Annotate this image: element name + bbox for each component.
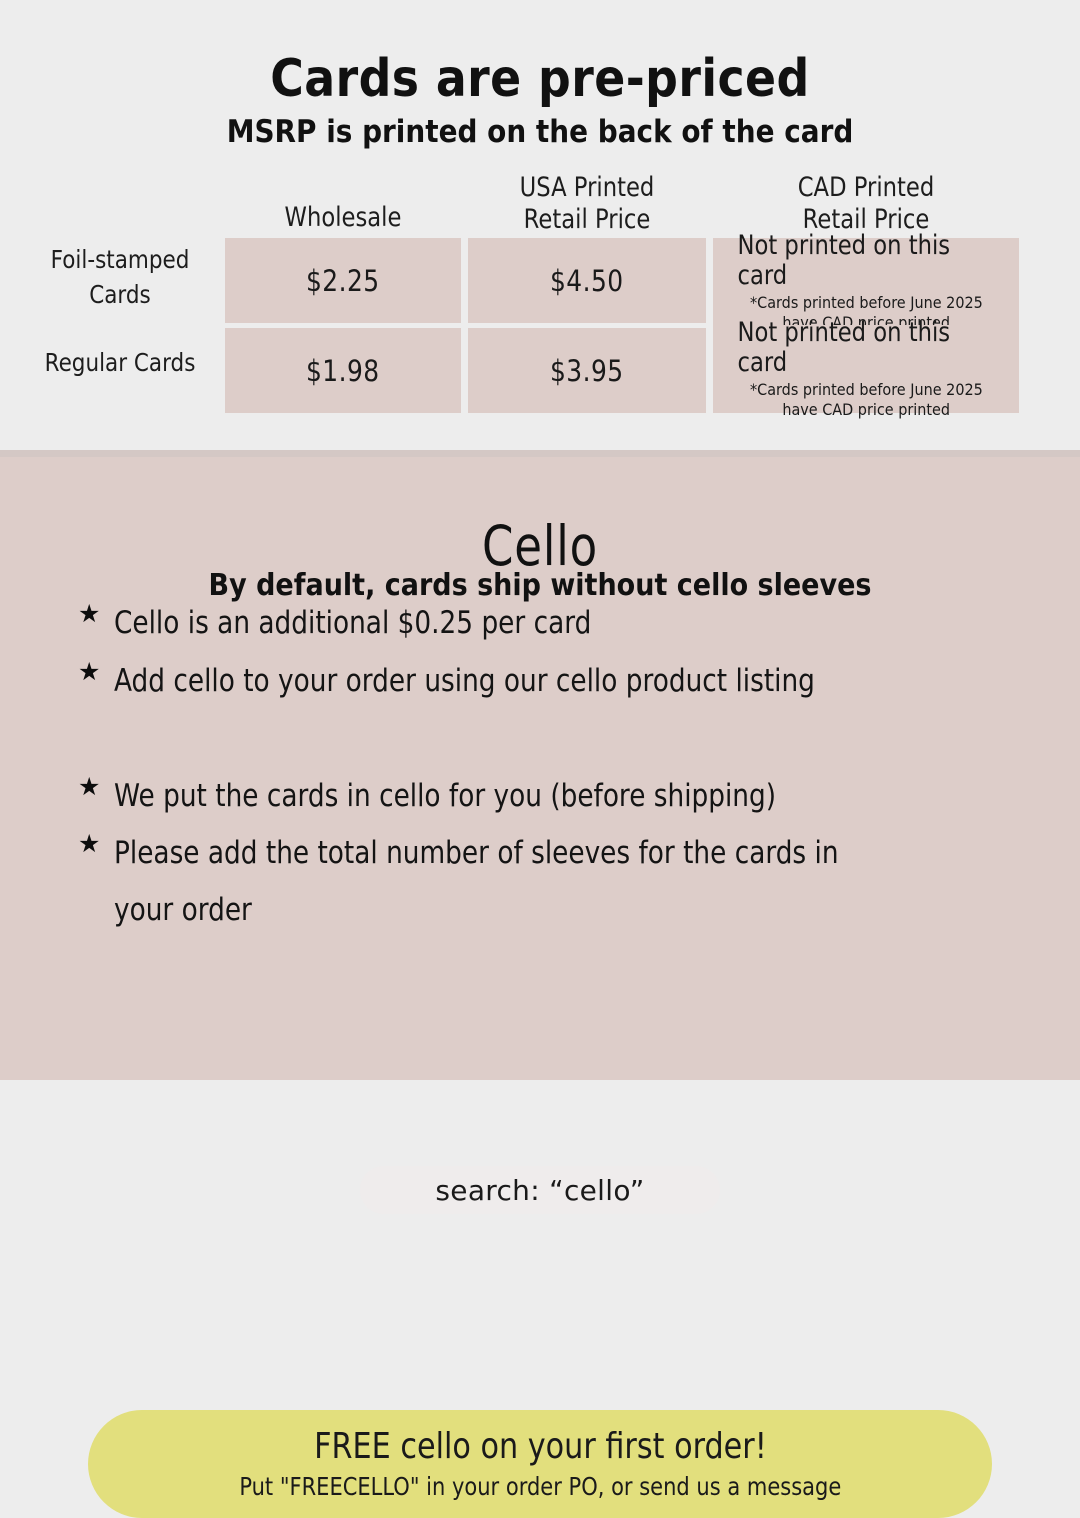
price-value: $2.25 <box>306 264 380 298</box>
star-icon: ★ <box>78 595 100 629</box>
free-cello-headline: FREE cello on your first order! <box>314 1427 767 1467</box>
cad-note-main: Not printed on this card <box>737 318 994 377</box>
page-subtitle: MSRP is printed on the back of the card <box>54 114 1026 150</box>
list-item: ★ Please add the total number of sleeves… <box>78 825 1008 940</box>
cad-note-sub-line1: *Cards printed before June 2025 <box>750 380 983 400</box>
section-divider <box>0 450 1080 457</box>
list-item-text: Add cello to your order using our cello … <box>114 653 815 710</box>
row-label-foil-stamped-line2: Cards <box>34 278 206 313</box>
cad-note-sub-line1: *Cards printed before June 2025 <box>750 293 983 313</box>
table-cell-foil-wholesale: $2.25 <box>225 238 461 323</box>
list-item: ★ Add cello to your order using our cell… <box>78 653 939 710</box>
pricing-table: Wholesale USA Printed Retail Price CAD P… <box>0 160 1080 420</box>
list-item-text: Please add the total number of sleeves f… <box>114 825 839 940</box>
column-header-cad-line1: CAD Printed <box>737 172 994 204</box>
column-header-wholesale: Wholesale <box>244 202 442 234</box>
row-label-foil-stamped: Foil-stamped Cards <box>34 243 206 312</box>
pricing-section: Cards are pre-priced MSRP is printed on … <box>0 0 1080 450</box>
column-header-usa-line1: USA Printed <box>487 172 687 204</box>
row-label-foil-stamped-line1: Foil-stamped <box>34 243 206 278</box>
free-cello-banner: FREE cello on your first order! Put "FRE… <box>88 1410 992 1518</box>
cad-note-sub-line2: have CAD price printed <box>782 400 950 420</box>
table-cell-regular-wholesale: $1.98 <box>225 328 461 413</box>
price-value: $3.95 <box>550 354 624 388</box>
column-header-wholesale-label: Wholesale <box>244 202 442 234</box>
free-cello-detail: Put "FREECELLO" in your order PO, or sen… <box>239 1473 841 1501</box>
price-value: $1.98 <box>306 354 380 388</box>
table-cell-foil-cad-retail: Not printed on this card *Cards printed … <box>713 238 1019 326</box>
list-item: ★ Cello is an additional $0.25 per card <box>78 595 676 652</box>
column-header-usa-line2: Retail Price <box>487 204 687 236</box>
cello-section: Cello By default, cards ship without cel… <box>0 450 1080 1080</box>
table-cell-regular-usa-retail: $3.95 <box>468 328 706 413</box>
table-cell-foil-usa-retail: $4.50 <box>468 238 706 323</box>
star-icon: ★ <box>78 653 100 687</box>
column-header-cad-retail: CAD Printed Retail Price <box>737 172 994 235</box>
column-header-usa-retail: USA Printed Retail Price <box>487 172 687 235</box>
table-cell-regular-cad-retail: Not printed on this card *Cards printed … <box>713 325 1019 413</box>
infographic-page: Cards are pre-priced MSRP is printed on … <box>0 0 1080 1080</box>
list-item-text: Cello is an additional $0.25 per card <box>114 595 591 652</box>
list-item-text: We put the cards in cello for you (befor… <box>114 768 776 825</box>
search-hint-pill[interactable]: search: “cello” <box>360 1166 720 1214</box>
list-item: ★ We put the cards in cello for you (bef… <box>78 768 893 825</box>
star-icon: ★ <box>78 768 100 802</box>
row-label-regular-cards: Regular Cards <box>34 346 206 381</box>
row-label-regular-cards-line1: Regular Cards <box>34 346 206 381</box>
page-title: Cards are pre-priced <box>65 49 1015 109</box>
star-icon: ★ <box>78 825 100 859</box>
cad-note-main: Not printed on this card <box>737 231 994 290</box>
price-value: $4.50 <box>550 264 624 298</box>
search-hint-text: search: “cello” <box>435 1174 644 1207</box>
